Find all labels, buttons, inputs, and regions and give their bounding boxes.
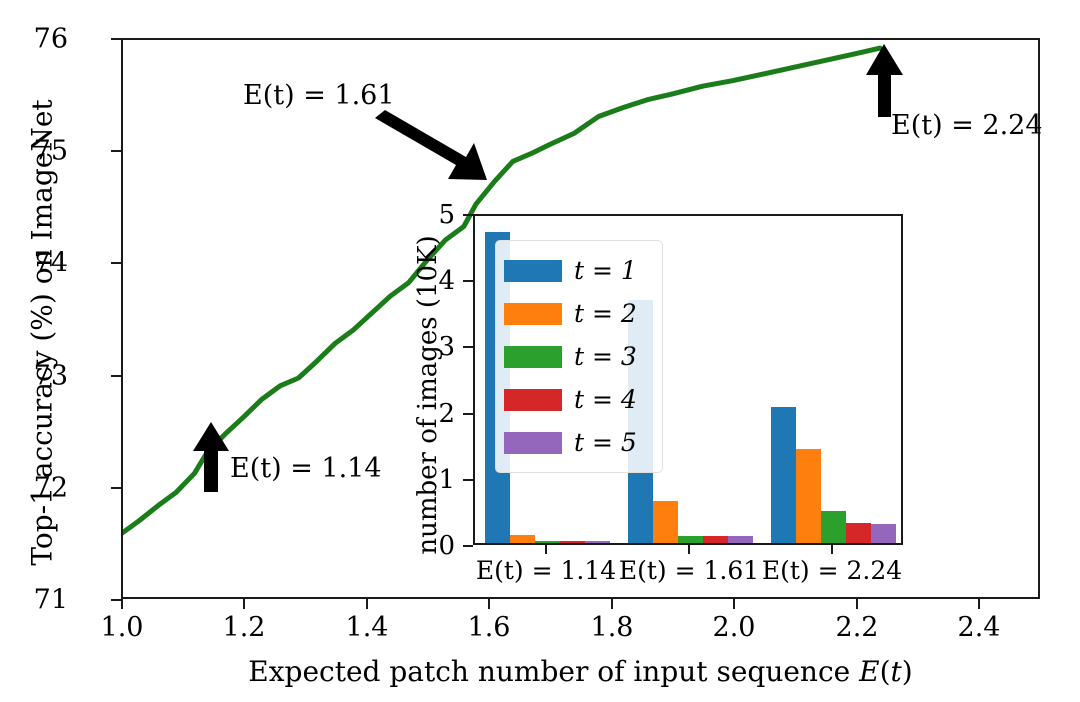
- figure-canvas: 76 75 74 73 72 71 1.0 1.2 1.4 1.6 1.8 2.…: [0, 0, 1080, 702]
- main-xtick-2-4: [978, 599, 980, 609]
- main-ytick-76: [111, 38, 121, 40]
- main-ytick-73: [111, 375, 121, 377]
- main-yticklabel-71: 71: [34, 587, 68, 614]
- inset-xticklabel-3: E(t) = 2.24: [762, 558, 902, 583]
- inset-xticklabel-1: E(t) = 1.14: [476, 558, 616, 583]
- legend-swatch-t3: [504, 346, 562, 368]
- main-x-axis-label: Expected patch number of input sequence …: [121, 655, 1040, 688]
- legend-swatch-t2: [504, 303, 562, 325]
- annotation-label-2-24: E(t) = 2.24: [891, 112, 1043, 139]
- inset-legend: t = 1 t = 2 t = 3 t = 4 t = 5: [495, 240, 663, 473]
- legend-label-t5: t = 5: [574, 430, 637, 455]
- inset-ytick-1: [463, 479, 473, 481]
- legend-item-t5[interactable]: t = 5: [504, 421, 652, 464]
- main-x-axis-label-t: t: [891, 655, 902, 688]
- inset-bar-t3-group1: [535, 541, 560, 543]
- inset-bar-t4-group3: [846, 523, 871, 543]
- inset-bar-t5-group1: [585, 541, 610, 543]
- inset-bar-t3-group3: [821, 511, 846, 543]
- annotation-label-1-61: E(t) = 1.61: [243, 82, 395, 109]
- main-xtick-1-6: [488, 599, 490, 609]
- inset-xtick-3: [831, 545, 833, 554]
- main-x-axis-label-paren-open: (: [880, 655, 891, 688]
- inset-bar-t4-group1: [560, 541, 585, 543]
- main-x-axis-label-paren-close: ): [902, 655, 913, 688]
- main-xticklabel-1-6: 1.6: [468, 614, 511, 641]
- annotation-label-1-14: E(t) = 1.14: [230, 455, 382, 482]
- main-xticklabel-2-2: 2.2: [836, 614, 879, 641]
- main-ytick-71: [111, 599, 121, 601]
- main-ytick-75: [111, 150, 121, 152]
- legend-label-t3: t = 3: [574, 344, 637, 369]
- inset-bar-t5-group3: [871, 524, 896, 543]
- inset-bar-t5-group2: [728, 536, 753, 543]
- inset-bar-t2-group1: [510, 535, 535, 543]
- main-x-axis-label-e: E: [859, 655, 879, 688]
- main-ytick-72: [111, 487, 121, 489]
- legend-item-t1[interactable]: t = 1: [504, 249, 652, 292]
- main-x-axis-label-text: Expected patch number of input sequence: [248, 655, 859, 688]
- main-xtick-1-0: [121, 599, 123, 609]
- main-xticklabel-2-0: 2.0: [713, 614, 756, 641]
- main-xtick-1-8: [611, 599, 613, 609]
- legend-item-t3[interactable]: t = 3: [504, 335, 652, 378]
- main-yticklabel-76: 76: [34, 26, 68, 53]
- inset-ytick-5: [463, 214, 473, 216]
- main-xtick-1-2: [243, 599, 245, 609]
- legend-swatch-t1: [504, 260, 562, 282]
- inset-ytick-2: [463, 413, 473, 415]
- legend-item-t2[interactable]: t = 2: [504, 292, 652, 335]
- legend-swatch-t5: [504, 432, 562, 454]
- legend-swatch-t4: [504, 389, 562, 411]
- legend-item-t4[interactable]: t = 4: [504, 378, 652, 421]
- inset-bar-t1-group3: [771, 407, 796, 543]
- inset-bar-t2-group2: [653, 501, 678, 543]
- inset-ytick-4: [463, 280, 473, 282]
- main-xticklabel-1-2: 1.2: [223, 614, 266, 641]
- inset-ytick-0: [463, 545, 473, 547]
- inset-bar-t4-group2: [703, 536, 728, 543]
- main-xtick-1-4: [366, 599, 368, 609]
- main-xticklabel-2-4: 2.4: [958, 614, 1001, 641]
- main-xticklabel-1-0: 1.0: [101, 614, 144, 641]
- main-xtick-2-0: [733, 599, 735, 609]
- inset-xticklabel-2: E(t) = 1.61: [619, 558, 759, 583]
- inset-xtick-1: [545, 545, 547, 554]
- inset-ytick-3: [463, 346, 473, 348]
- inset-bar-t3-group2: [678, 536, 703, 543]
- main-y-axis-label: Top-1 accuracy (%) on ImageNet: [26, 83, 59, 583]
- inset-y-axis-label: number of images (10K): [413, 205, 443, 585]
- main-xticklabel-1-4: 1.4: [346, 614, 389, 641]
- inset-xtick-2: [688, 545, 690, 554]
- legend-label-t2: t = 2: [574, 301, 637, 326]
- legend-label-t4: t = 4: [574, 387, 637, 412]
- main-xticklabel-1-8: 1.8: [591, 614, 634, 641]
- main-ytick-74: [111, 262, 121, 264]
- legend-label-t1: t = 1: [574, 258, 637, 283]
- main-xtick-2-2: [856, 599, 858, 609]
- inset-bar-t2-group3: [796, 449, 821, 543]
